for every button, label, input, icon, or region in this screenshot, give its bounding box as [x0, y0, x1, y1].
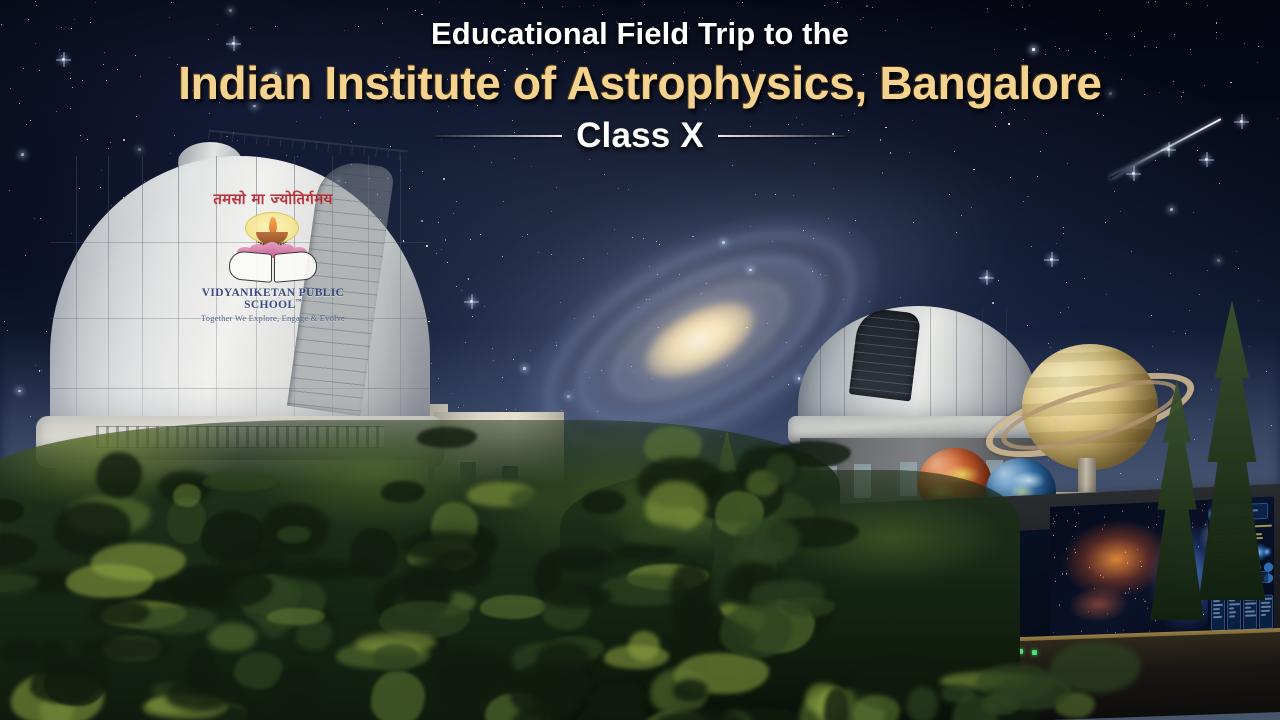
poster-kicker: Educational Field Trip to the: [0, 16, 1280, 52]
logo-emblem: [223, 208, 323, 282]
screen-data-list[interactable]: [842, 529, 1050, 646]
data-list-panel: [842, 529, 1050, 646]
class-label: Class X: [576, 116, 704, 156]
school-tagline: Together We Explore, Engage & Evolve: [180, 313, 366, 323]
title-block: Educational Field Trip to the Indian Ins…: [0, 16, 1280, 156]
indicator-light-icon: [1018, 649, 1023, 654]
dome-base: [56, 460, 428, 690]
indicator-light-icon: [1004, 648, 1009, 653]
screen-dashboard[interactable]: [1208, 497, 1274, 642]
divider-rule-left: [434, 135, 562, 137]
dome-shutter-slit: [849, 307, 921, 402]
school-name-text: VIDYANIKETAN PUBLIC SCHOOL: [202, 287, 344, 311]
trademark-symbol: ™: [295, 299, 301, 305]
main-observatory-dome: तमसो मा ज्योतिर्गमय: [30, 140, 450, 560]
side-building: [434, 412, 564, 582]
divider-rule-right: [718, 135, 846, 137]
school-name: VIDYANIKETAN PUBLIC SCHOOL™: [180, 287, 366, 311]
wall-base: [822, 632, 1280, 720]
poster-root: तमसो मा ज्योतिर्गमय: [0, 0, 1280, 720]
open-book-icon: [229, 252, 317, 282]
poster-headline: Indian Institute of Astrophysics, Bangal…: [0, 58, 1280, 109]
indicator-light-icon: [1032, 650, 1037, 655]
school-logo: तमसो मा ज्योतिर्गमय: [180, 192, 366, 323]
dome-shell: तमसो मा ज्योतिर्गमय: [50, 156, 430, 456]
dashboard-panel: [1208, 497, 1274, 642]
logo-sanskrit-motto: तमसो मा ज्योतिर्गमय: [179, 192, 366, 207]
class-line: Class X: [0, 116, 1280, 156]
